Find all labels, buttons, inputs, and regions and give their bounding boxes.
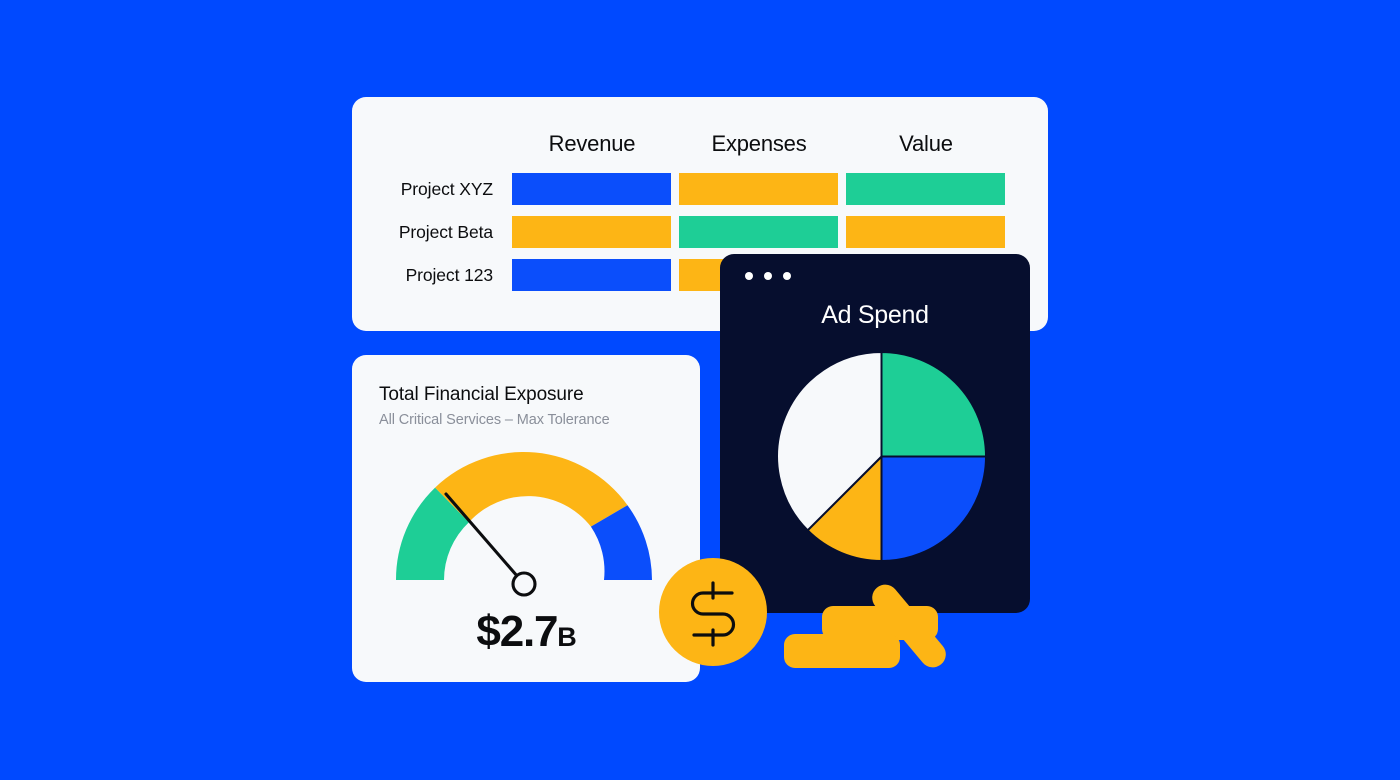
window-dot-icon — [783, 272, 791, 280]
column-header-revenue: Revenue — [512, 131, 672, 157]
gauge-value-suffix: B — [557, 622, 575, 652]
gauge-svg — [374, 450, 674, 610]
coin-body — [659, 558, 767, 666]
table-row: Project Beta — [352, 216, 1048, 258]
bar-beta-revenue — [512, 216, 671, 248]
column-header-expenses: Expenses — [679, 131, 839, 157]
ad-spend-title: Ad Spend — [720, 301, 1030, 330]
dollar-coin-svg — [659, 558, 767, 666]
gauge-chart — [374, 450, 674, 610]
bar-123-revenue — [512, 259, 671, 291]
bar-xyz-revenue — [512, 173, 671, 205]
bar-xyz-value — [846, 173, 1005, 205]
bar-xyz-expenses — [679, 173, 838, 205]
pie-svg — [774, 349, 989, 564]
row-label-project-beta: Project Beta — [352, 216, 502, 248]
window-dots — [745, 272, 791, 280]
bar-beta-expenses — [679, 216, 838, 248]
gauge-value: $2.7B — [352, 607, 700, 657]
column-header-row: Revenue Expenses Value — [352, 131, 1048, 163]
pie-slice-segment-a — [882, 352, 987, 457]
money-bar-lower — [784, 634, 900, 668]
column-header-value: Value — [846, 131, 1006, 157]
pie-slice-segment-b — [882, 457, 987, 562]
financial-exposure-card: Total Financial Exposure All Critical Se… — [352, 355, 700, 682]
window-dot-icon — [745, 272, 753, 280]
dollar-coin-icon — [659, 558, 767, 666]
money-stack-graphic — [778, 578, 968, 673]
ad-spend-pie-chart — [774, 349, 989, 564]
gauge-card-subtitle: All Critical Services – Max Tolerance — [379, 412, 610, 428]
row-label-project-xyz: Project XYZ — [352, 173, 502, 205]
bar-beta-value — [846, 216, 1005, 248]
gauge-value-number: $2.7 — [476, 607, 557, 656]
gauge-needle-pivot — [513, 573, 535, 595]
dollar-sign-icon — [693, 583, 734, 645]
money-stack-svg — [778, 578, 968, 673]
screenshot-canvas: Revenue Expenses Value Project XYZ Proje… — [0, 0, 1400, 780]
table-row: Project XYZ — [352, 173, 1048, 215]
window-dot-icon — [764, 272, 772, 280]
row-label-project-123: Project 123 — [352, 259, 502, 291]
gauge-card-title: Total Financial Exposure — [379, 384, 584, 406]
